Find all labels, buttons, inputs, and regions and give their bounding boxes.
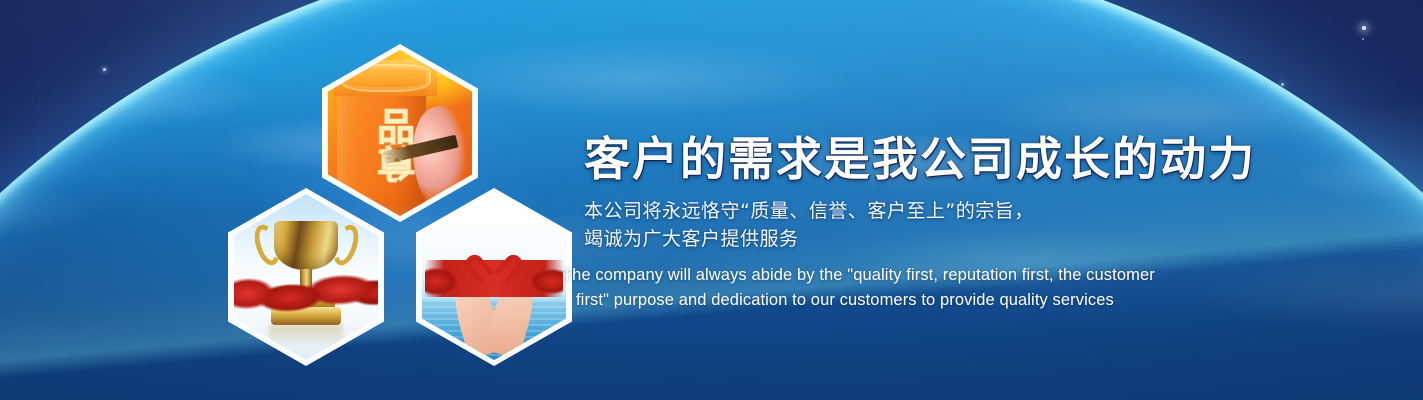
trophy-cup [274,221,337,271]
red-ribbon [234,269,378,314]
carved-seal-icon: 品尊 [328,50,472,216]
hexagon-seal-image: 品尊 [328,50,472,216]
subtitle-chinese-line-2: 竭诚为广大客户提供服务 [584,225,1224,254]
hexagon-image-cluster: 品尊 [228,44,564,366]
subtitle-english-line-2: first" purpose and dedication to our cus… [576,288,1224,313]
hands-heart-icon [422,194,566,360]
subtitle-english-line-1: The company will always abide by the "qu… [562,263,1224,288]
subtitle-chinese-line-1: 本公司将永远恪守“质量、信誉、客户至上”的宗旨， [584,197,1224,226]
hexagon-trophy-image [234,194,378,360]
hexagon-hands-heart[interactable] [416,188,572,366]
page-title: 客户的需求是我公司成长的动力 [584,134,1224,185]
hexagon-hands-heart-image [422,194,566,360]
trophy-icon [234,194,378,360]
heart-icon [476,244,512,278]
banner-text-block: 客户的需求是我公司成长的动力 本公司将永远恪守“质量、信誉、客户至上”的宗旨， … [584,134,1224,314]
subtitle-english: The company will always abide by the "qu… [562,263,1224,313]
promo-banner: 品尊 [0,0,1423,400]
subtitle-chinese: 本公司将永远恪守“质量、信誉、客户至上”的宗旨， 竭诚为广大客户提供服务 [584,197,1224,255]
hexagon-trophy[interactable] [228,188,384,366]
seal-carved-top [334,60,438,97]
trophy-reflection [269,325,344,347]
hexagon-seal[interactable]: 品尊 [322,44,478,222]
